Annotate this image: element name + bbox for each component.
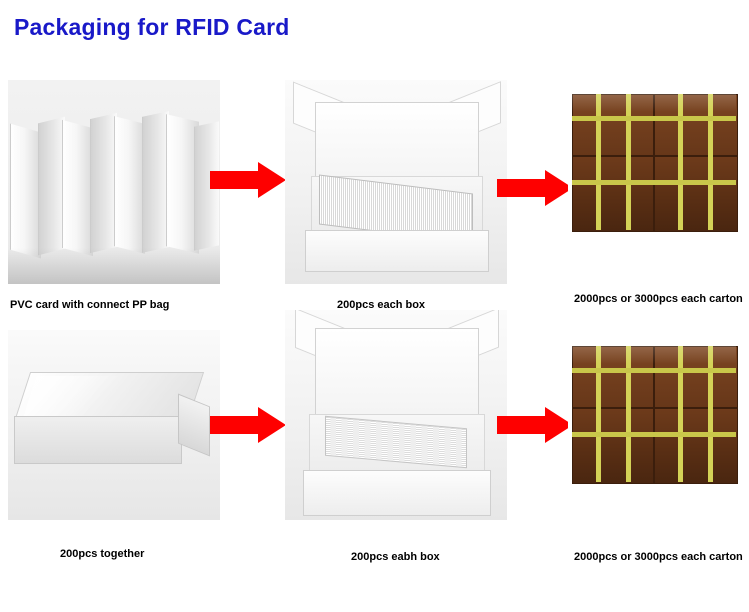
arrow-right-2a (210, 405, 286, 445)
carton-highlight (572, 346, 736, 364)
carton-strap-horizontal (572, 368, 736, 373)
pvc-card-fanfold-photo (8, 80, 220, 284)
carton-strap-vertical (626, 94, 631, 230)
caption-row2-step2: 200pcs eabh box (351, 551, 440, 563)
carton-box (572, 156, 654, 232)
caption-row2-step1: 200pcs together (60, 548, 144, 560)
arrow-right-1a (210, 160, 286, 200)
box-back-panel (315, 328, 479, 422)
carton-strap-vertical (596, 94, 601, 230)
card-block-front (14, 416, 182, 464)
carton-strap-vertical (596, 346, 601, 482)
caption-row1-step1: PVC card with connect PP bag (10, 299, 169, 311)
carton-strap-vertical (678, 346, 683, 482)
carton-strap-horizontal (572, 116, 736, 121)
brown-cartons-strapped-photo (568, 80, 740, 268)
carton-strap-horizontal (572, 180, 736, 185)
carton-strap-vertical (708, 346, 713, 482)
page-title: Packaging for RFID Card (14, 14, 290, 41)
carton-strap-vertical (678, 94, 683, 230)
photo-shadow (8, 248, 220, 284)
carton-box (572, 408, 654, 484)
white-box-with-cards-photo (285, 80, 507, 284)
carton-strap-horizontal (572, 432, 736, 437)
carton-strap-vertical (626, 346, 631, 482)
white-box-with-card-stack-photo (285, 310, 507, 520)
carton-box (654, 408, 738, 484)
carton-highlight (572, 94, 736, 112)
carton-strap-vertical (708, 94, 713, 230)
arrow-right-1b (497, 168, 573, 208)
caption-row2-step3: 2000pcs or 3000pcs each carton (574, 551, 743, 563)
brown-cartons-strapped-photo-2 (568, 332, 740, 520)
box-front-panel (305, 230, 489, 272)
box-front-panel (303, 470, 491, 516)
arrow-right-2b (497, 405, 573, 445)
carton-box (654, 156, 738, 232)
caption-row1-step3: 2000pcs or 3000pcs each carton (574, 293, 743, 305)
plastic-wrap-gloss (24, 376, 157, 416)
shrink-wrapped-card-block-photo (8, 330, 220, 520)
